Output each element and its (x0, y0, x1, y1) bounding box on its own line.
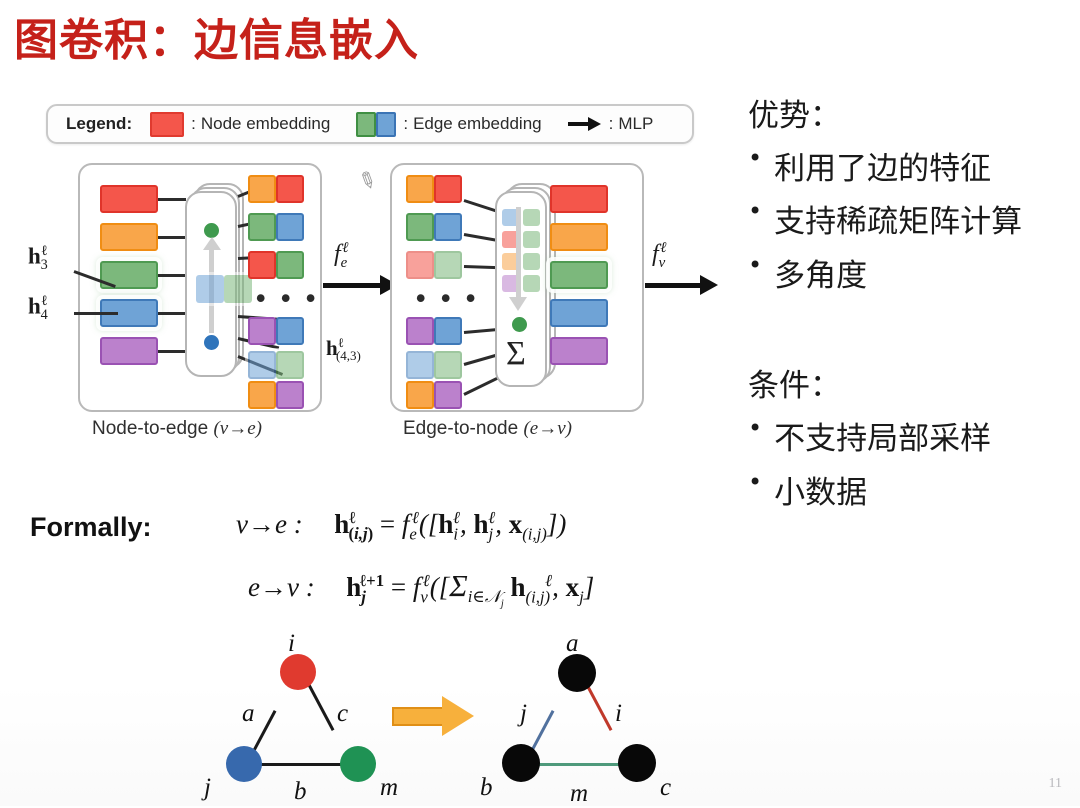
connector-line (158, 198, 186, 201)
graph-node-label-c: c (660, 774, 671, 802)
graph-edge-label-a: a (242, 700, 255, 728)
advantages-bullet-text: 多角度 (774, 250, 867, 295)
input-label-h3: hℓ3 (28, 243, 48, 274)
node-bar-blue (550, 299, 608, 327)
pencil-icon: ✎ (353, 165, 381, 196)
caption-paren-text: (e→v) (523, 418, 572, 439)
graph-edge-label-c: c (337, 700, 348, 728)
edge-pair-purple-blue (406, 317, 462, 345)
caption-main-text: Edge-to-node (403, 418, 518, 439)
connector-line (158, 312, 186, 315)
legend-colon: : (609, 114, 614, 134)
legend-colon: : (191, 114, 196, 134)
graph-node-c (618, 744, 656, 782)
edge-pair-green-blue (248, 213, 304, 241)
input-label-h4: hℓ4 (28, 293, 48, 324)
pointer-label-h43: hℓ(4,3) (326, 335, 361, 364)
green-blue-squares-icon (356, 112, 396, 137)
edge-pair-orange-purple (406, 381, 462, 409)
conditions-heading: 条件： (748, 360, 841, 405)
stack-flow-arrow (516, 207, 521, 299)
edge-to-node-caption: Edge-to-node (e→v) (403, 418, 572, 440)
node-bar-purple (550, 337, 608, 365)
node-to-edge-caption: Node-to-edge (v→e) (92, 418, 262, 440)
edge-to-node-panel: • • • (390, 163, 644, 412)
equation-direction: v→e : (236, 509, 303, 539)
stack-output-dot (204, 223, 219, 238)
equation-equals: = (391, 572, 406, 602)
red-square-icon (150, 112, 184, 137)
edge-pair-red-green (248, 251, 304, 279)
advantages-heading: 优势： (748, 90, 841, 135)
edge-pair-green-blue (406, 213, 462, 241)
graph-node-i (280, 654, 316, 690)
mlp-stack-left (184, 183, 246, 381)
equation-rhs: fvℓ([Σi∈𝒩j h(i,j)ℓ, xj] (413, 572, 594, 602)
advantages-bullet-2: • 多角度 (748, 250, 867, 295)
stack-edge-pair (502, 253, 540, 270)
graph-node-label-m: m (380, 774, 398, 802)
edge-pair-purple-blue (248, 317, 304, 345)
mlp-stack-right: Σ (492, 183, 558, 388)
graph-original: i a c b j m (200, 632, 420, 802)
stack-flow-arrowhead (203, 237, 221, 250)
advantages-bullet-1: • 支持稀疏矩阵计算 (748, 196, 1022, 241)
legend-text-mlp: MLP (618, 114, 653, 134)
legend-bar: Legend: : Node embedding : Edge embeddin… (46, 104, 694, 144)
graph-node-label-j: j (204, 774, 211, 802)
graph-node-label-b: b (480, 774, 493, 802)
node-bar-red (100, 185, 158, 213)
slide-canvas: 图卷积：边信息嵌入 Legend: : Node embedding : Edg… (0, 0, 1080, 806)
node-bar-orange (550, 223, 608, 251)
graph-node-b (502, 744, 540, 782)
legend-label: Legend: (66, 114, 132, 134)
graph-edge-label-j: j (520, 700, 527, 728)
legend-item-edge-embedding: : Edge embedding (356, 112, 541, 137)
node-bar-green (550, 261, 608, 289)
page-title: 图卷积：边信息嵌入 (14, 4, 419, 68)
arrow-label-fe: feℓ (334, 240, 348, 272)
edge-pair-red-green-highlighted (406, 251, 462, 279)
arrow-icon (568, 119, 602, 129)
pointer-h4 (74, 312, 118, 315)
bullet-dot: • (748, 413, 762, 443)
equation-equals: = (380, 509, 395, 539)
page-number: 11 (1049, 776, 1062, 792)
caption-paren-text: (v→e) (213, 418, 262, 439)
edge-pair-blue-green-highlighted (248, 351, 304, 379)
graph-node-a (558, 654, 596, 692)
bullet-dot: • (748, 143, 762, 173)
edge-pair-orange-purple (248, 381, 304, 409)
graph-edge-label-b: b (294, 778, 307, 806)
formally-label: Formally: (30, 512, 152, 543)
legend-text-edge-embedding: Edge embedding (413, 114, 542, 134)
node-bar-red (550, 185, 608, 213)
connector-line (158, 274, 186, 277)
advantages-bullet-text: 支持稀疏矩阵计算 (774, 196, 1022, 241)
sigma-symbol: Σ (506, 335, 526, 373)
equation-lhs: hjℓ+1 (346, 572, 384, 602)
graph-edge-label-i: i (615, 700, 622, 728)
stack-edge-pair (502, 231, 540, 248)
arrow-edge-to-node-output (645, 283, 701, 288)
graph-node-j (226, 746, 262, 782)
bullet-dot: • (748, 467, 762, 497)
node-bar-purple (100, 337, 158, 365)
conditions-bullet-0: • 不支持局部采样 (748, 413, 991, 458)
bullet-dot: • (748, 196, 762, 226)
stack-input-dot (204, 335, 219, 350)
graph-line-graph: a j i m b c (478, 632, 698, 802)
advantages-bullet-0: • 利用了边的特征 (748, 143, 991, 188)
stack-flow-arrowhead (509, 297, 527, 311)
legend-item-mlp: : MLP (568, 114, 654, 134)
graph-node-m (340, 746, 376, 782)
bullet-dot: • (748, 250, 762, 280)
transform-arrow (392, 696, 476, 736)
arrow-label-fv: fvℓ (652, 240, 666, 272)
conditions-bullet-text: 小数据 (774, 467, 867, 512)
stack-output-dot (512, 317, 527, 332)
caption-main-text: Node-to-edge (92, 418, 208, 439)
edge-pair-orange-red (248, 175, 304, 203)
connector-line (158, 350, 186, 353)
conditions-bullet-text: 不支持局部采样 (774, 413, 991, 458)
arrow-node-to-edge-output (323, 283, 381, 288)
equation-node-to-edge: v→e : hℓ(i,j) = feℓ([hiℓ, hjℓ, x(i,j)]) (236, 508, 566, 544)
conditions-bullet-1: • 小数据 (748, 467, 867, 512)
stack-edge-pair (502, 209, 540, 226)
legend-item-node-embedding: : Node embedding (150, 112, 330, 137)
equation-lhs: hℓ(i,j) (334, 509, 373, 539)
stack-edge-pair (196, 275, 252, 303)
edge-pairs-ellipsis: • • • (416, 283, 479, 314)
equation-direction: e→v : (248, 572, 315, 602)
connector-line (158, 236, 186, 239)
stack-edge-pair (502, 275, 540, 292)
advantages-bullet-text: 利用了边的特征 (774, 143, 991, 188)
edge-pair-orange-red (406, 175, 462, 203)
edge-pair-blue-green (406, 351, 462, 379)
equation-rhs: feℓ([hiℓ, hjℓ, x(i,j)]) (402, 509, 566, 539)
legend-colon: : (403, 114, 408, 134)
node-bar-orange (100, 223, 158, 251)
equation-edge-to-node: e→v : hjℓ+1 = fvℓ([Σi∈𝒩j h(i,j)ℓ, xj] (248, 568, 594, 610)
legend-text-node-embedding: Node embedding (201, 114, 330, 134)
edge-pairs-ellipsis: • • • (256, 283, 319, 314)
graph-edge-label-m: m (570, 780, 588, 808)
